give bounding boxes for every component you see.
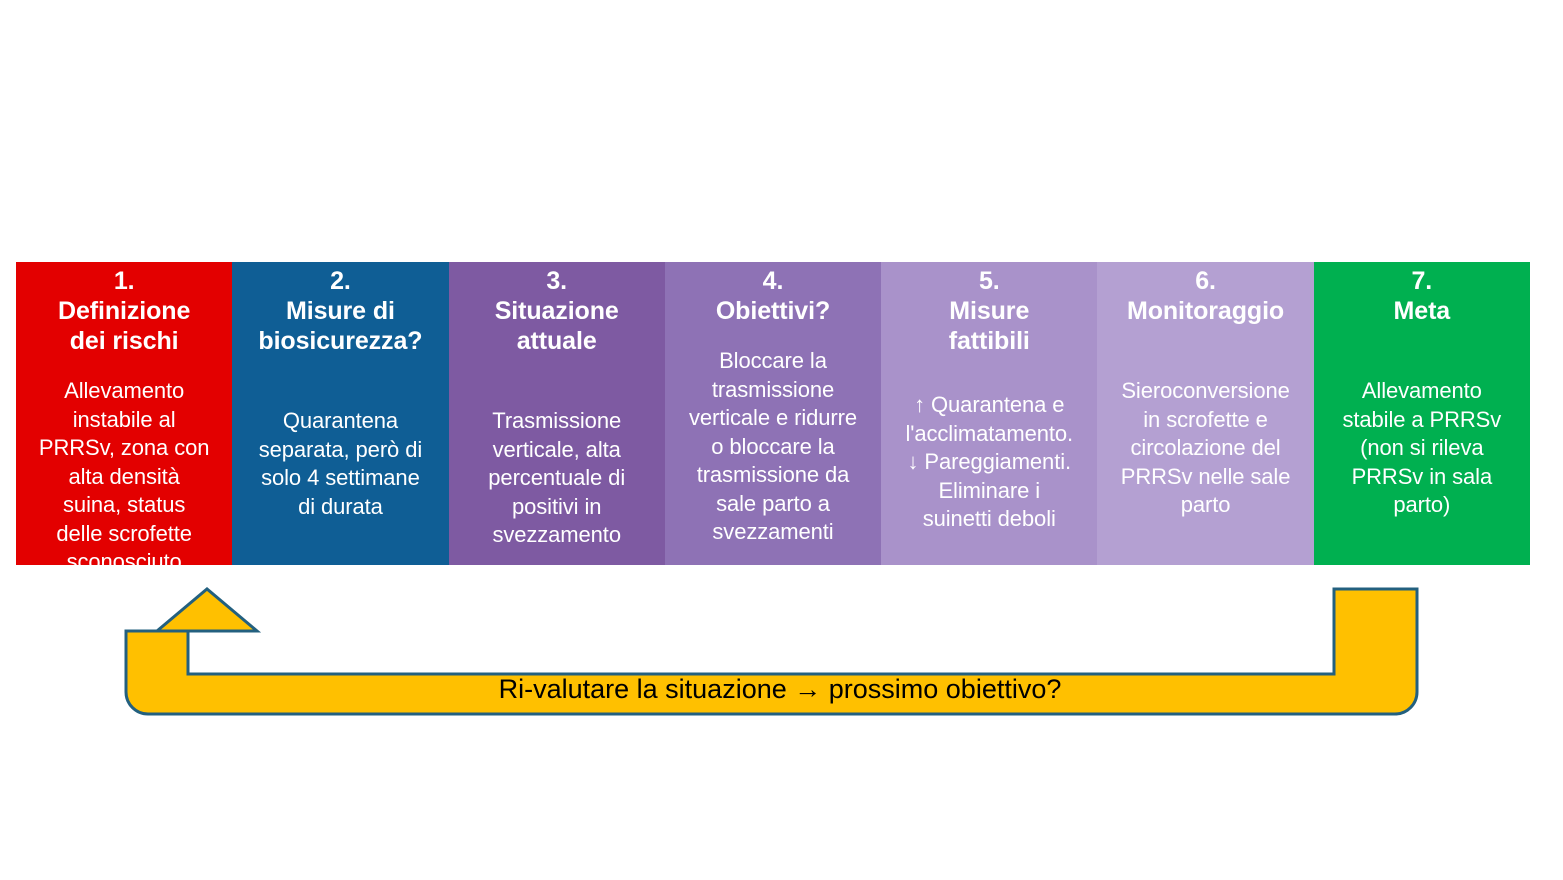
step-1-body: Allevamento instabile al PRRSv, zona con…	[16, 377, 232, 565]
process-steps-band: 1. Definizione dei rischi Allevamento in…	[16, 262, 1530, 565]
step-column-7[interactable]: 7. Meta Allevamento stabile a PRRSv (non…	[1314, 262, 1530, 565]
step-column-1[interactable]: 1. Definizione dei rischi Allevamento in…	[16, 262, 232, 565]
step-6-heading: 6. Monitoraggio	[1097, 262, 1313, 326]
step-3-heading: 3. Situazione attuale	[449, 262, 665, 356]
step-4-body: Bloccare la trasmissione verticale e rid…	[665, 347, 881, 547]
step-5-body: ↑ Quarantena e l'acclimatamento. ↓ Pareg…	[881, 391, 1097, 534]
u-turn-arrow-up-left-icon	[88, 584, 1468, 734]
step-2-heading: 2. Misure di biosicurezza?	[232, 262, 448, 356]
step-4-heading: 4. Obiettivi?	[665, 262, 881, 326]
step-column-6[interactable]: 6. Monitoraggio Sieroconversione in scro…	[1097, 262, 1313, 565]
step-7-body: Allevamento stabile a PRRSv (non si rile…	[1314, 377, 1530, 520]
step-column-5[interactable]: 5. Misure fattibili ↑ Quarantena e l'acc…	[881, 262, 1097, 565]
step-5-heading: 5. Misure fattibili	[881, 262, 1097, 356]
step-3-body: Trasmissione verticale, alta percentuale…	[449, 407, 665, 550]
step-column-4[interactable]: 4. Obiettivi? Bloccare la trasmissione v…	[665, 262, 881, 565]
step-7-heading: 7. Meta	[1314, 262, 1530, 326]
feedback-loop-arrow	[88, 584, 1468, 734]
step-column-2[interactable]: 2. Misure di biosicurezza? Quarantena se…	[232, 262, 448, 565]
step-2-body: Quarantena separata, però di solo 4 sett…	[232, 407, 448, 521]
step-6-body: Sieroconversione in scrofette e circolaz…	[1097, 377, 1313, 520]
diagram-canvas: 1. Definizione dei rischi Allevamento in…	[0, 0, 1563, 880]
step-column-3[interactable]: 3. Situazione attuale Trasmissione verti…	[449, 262, 665, 565]
step-1-heading: 1. Definizione dei rischi	[16, 262, 232, 356]
